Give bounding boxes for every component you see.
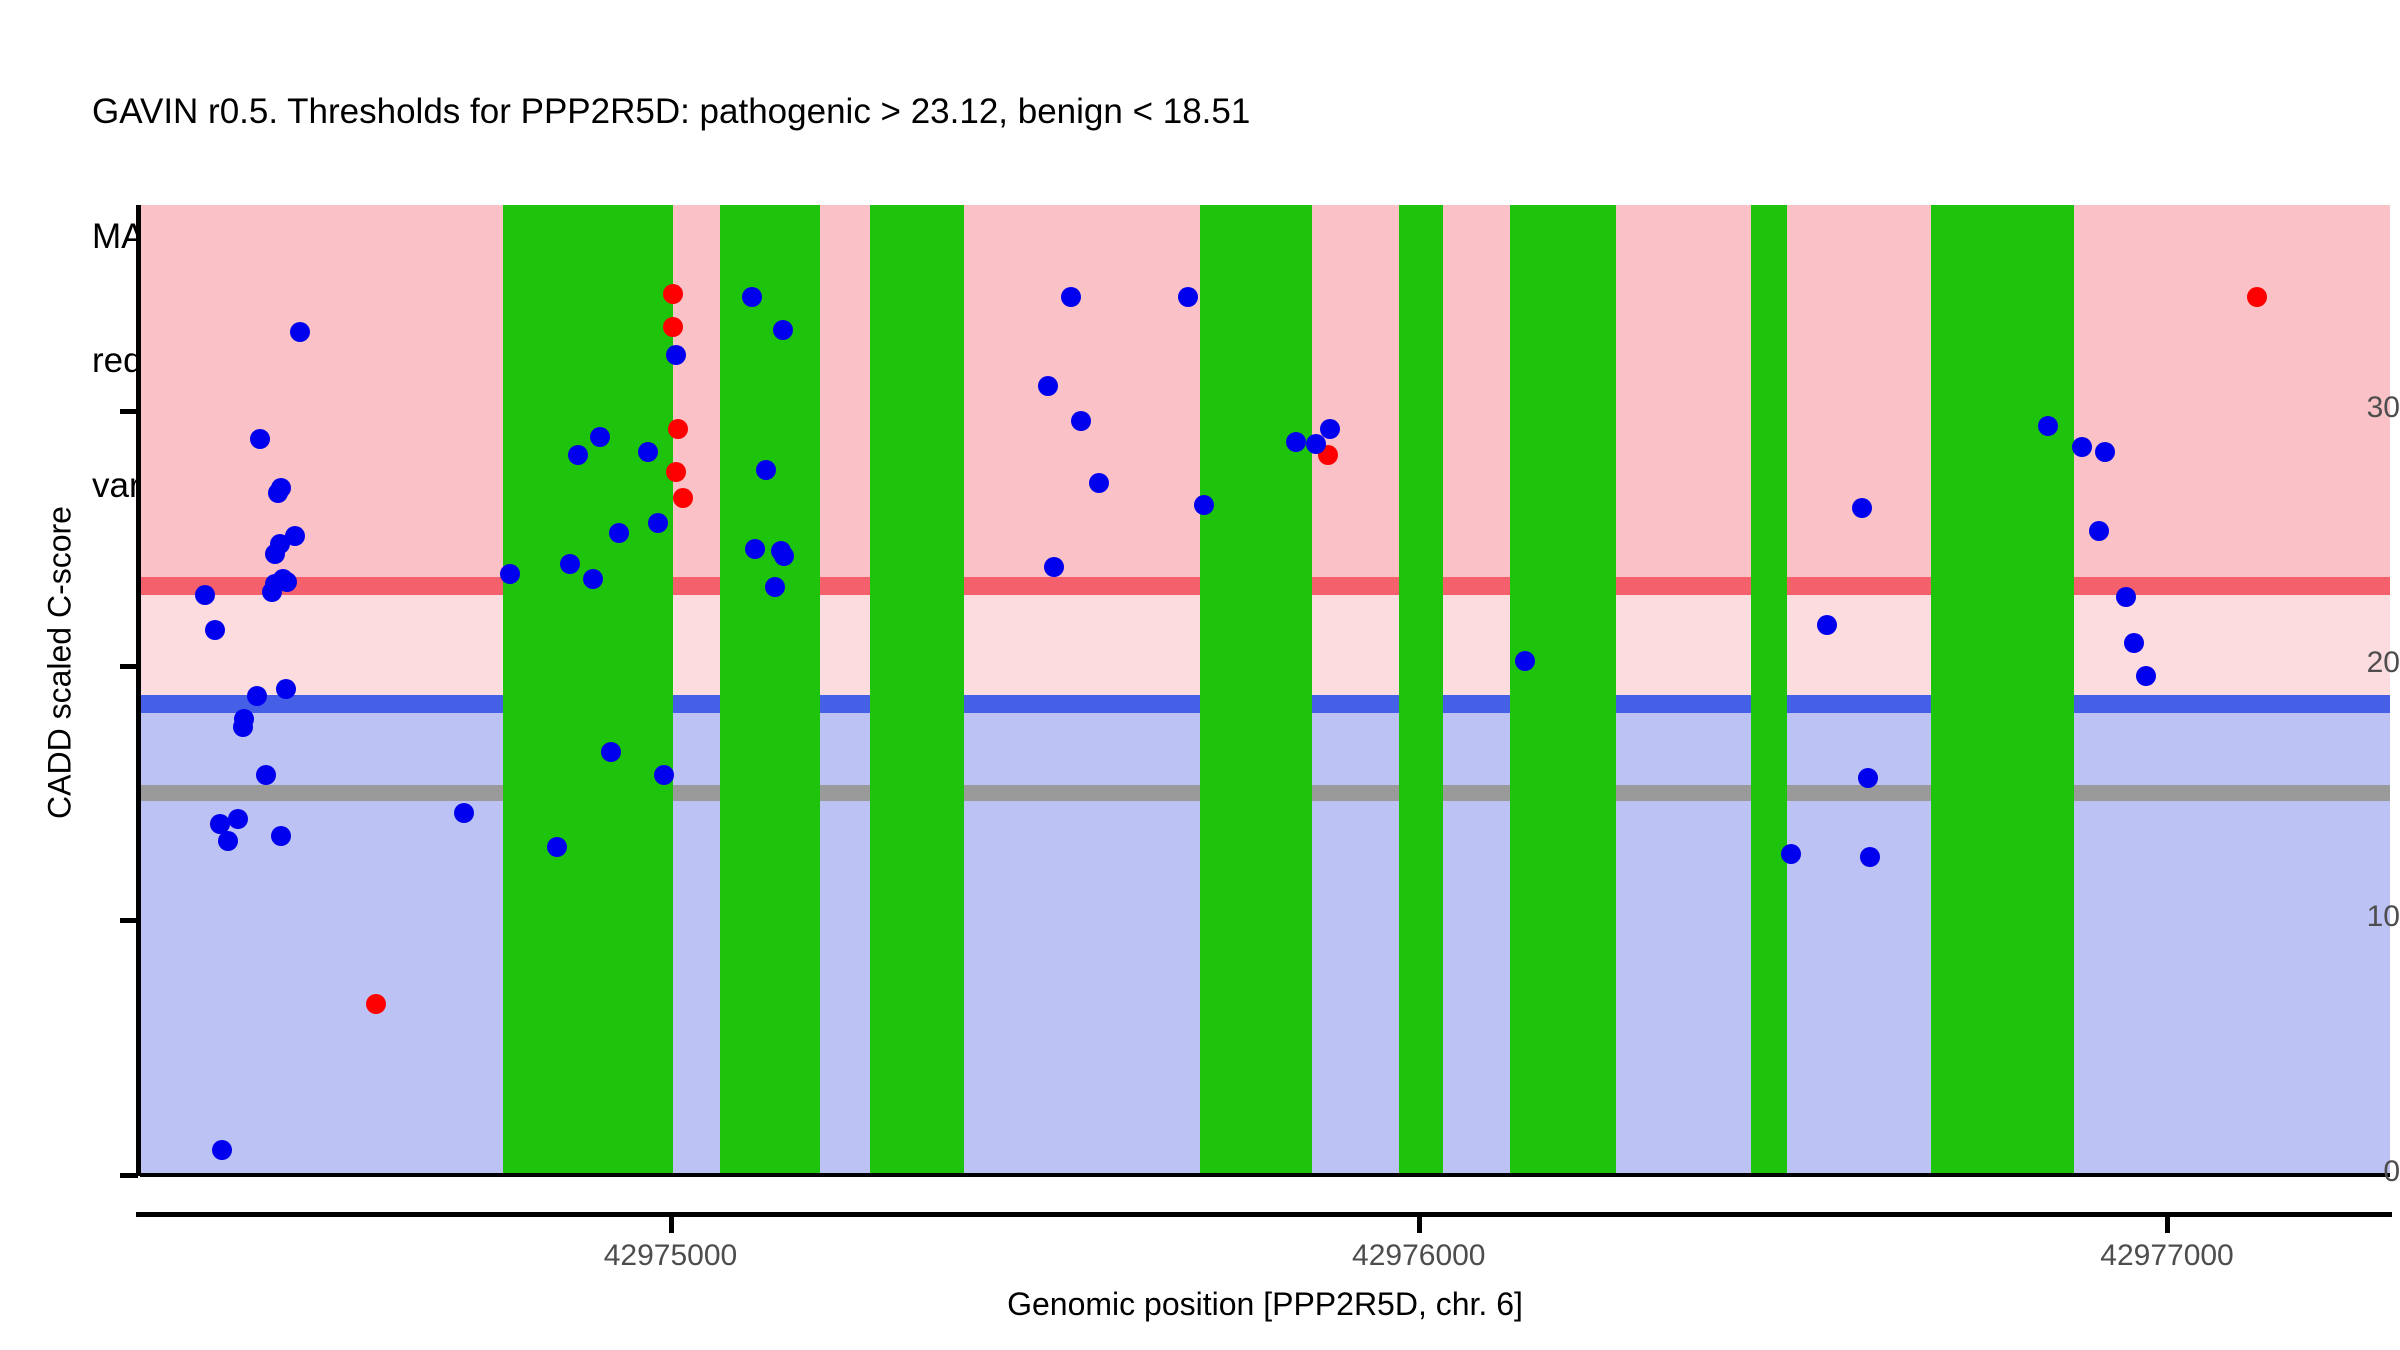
gnomad-point[interactable] [654, 765, 674, 785]
x-axis-tick [2165, 1217, 2170, 1233]
clinvar-point[interactable] [2247, 287, 2267, 307]
gnomad-point[interactable] [2089, 521, 2109, 541]
gnomad-point[interactable] [2136, 666, 2156, 686]
gnomad-point[interactable] [1515, 651, 1535, 671]
x-axis-tick-label: 42977000 [2037, 1239, 2297, 1273]
clinvar-point[interactable] [673, 488, 693, 508]
gnomad-point[interactable] [212, 1140, 232, 1160]
y-axis-tick [120, 664, 138, 669]
gnomad-point[interactable] [601, 742, 621, 762]
exon-band [720, 205, 820, 1175]
clinvar-point[interactable] [366, 994, 386, 1014]
gnomad-point[interactable] [285, 526, 305, 546]
clinvar-point[interactable] [663, 317, 683, 337]
gnomad-point[interactable] [756, 460, 776, 480]
y-axis-tick-label: 10 [2290, 900, 2400, 934]
y-axis-tick [120, 409, 138, 414]
gnomad-point[interactable] [205, 620, 225, 640]
clinvar-point[interactable] [668, 419, 688, 439]
y-axis-tick-label: 0 [2290, 1155, 2400, 1189]
gnomad-point[interactable] [1089, 473, 1109, 493]
y-axis-tick [120, 1173, 138, 1178]
y-axis-tick-label: 30 [2290, 391, 2400, 425]
y-axis-tick [120, 918, 138, 923]
exon-band [870, 205, 964, 1175]
gnomad-point[interactable] [638, 442, 658, 462]
gnomad-point[interactable] [1038, 376, 1058, 396]
gnomad-point[interactable] [2072, 437, 2092, 457]
gnomad-point[interactable] [1061, 287, 1081, 307]
gnomad-point[interactable] [1178, 287, 1198, 307]
gnomad-point[interactable] [1817, 615, 1837, 635]
exon-band [1510, 205, 1616, 1175]
gnomad-point[interactable] [276, 679, 296, 699]
title-line-1: GAVIN r0.5. Thresholds for PPP2R5D: path… [92, 91, 2352, 133]
gnomad-point[interactable] [247, 686, 267, 706]
exon-band [1200, 205, 1312, 1175]
plot-panel [140, 205, 2390, 1175]
gnomad-point[interactable] [547, 837, 567, 857]
gnomad-point[interactable] [745, 539, 765, 559]
gnomad-point[interactable] [228, 809, 248, 829]
exon-band [1931, 205, 2075, 1175]
gnomad-point[interactable] [1044, 557, 1064, 577]
exon-band [503, 205, 673, 1175]
gnomad-point[interactable] [195, 585, 215, 605]
gnomad-point[interactable] [1306, 434, 1326, 454]
gnomad-point[interactable] [271, 478, 291, 498]
gnomad-point[interactable] [773, 320, 793, 340]
y-axis-tick-label: 20 [2290, 646, 2400, 680]
gnomad-point[interactable] [218, 831, 238, 851]
exon-band [1399, 205, 1442, 1175]
x-axis-tick-label: 42975000 [541, 1239, 801, 1273]
gnomad-point[interactable] [742, 287, 762, 307]
gnomad-point[interactable] [648, 513, 668, 533]
panel-bottom-border [140, 1173, 2390, 1177]
chart-root: GAVIN r0.5. Thresholds for PPP2R5D: path… [0, 0, 2400, 1350]
x-axis-title: Genomic position [PPP2R5D, chr. 6] [140, 1286, 2390, 1323]
gnomad-point[interactable] [1286, 432, 1306, 452]
clinvar-point[interactable] [663, 284, 683, 304]
exon-band [1751, 205, 1787, 1175]
x-axis-line [136, 1212, 2392, 1217]
x-axis-tick [669, 1217, 674, 1233]
y-axis-title: CADD scaled C-score [42, 343, 79, 983]
gnomad-point[interactable] [2124, 633, 2144, 653]
gnomad-point[interactable] [256, 765, 276, 785]
x-axis-tick [1417, 1217, 1422, 1233]
gnomad-point[interactable] [590, 427, 610, 447]
y-axis-line [136, 205, 141, 1176]
gnomad-point[interactable] [2116, 587, 2136, 607]
gnomad-point[interactable] [1858, 768, 1878, 788]
gnomad-point[interactable] [568, 445, 588, 465]
gnomad-point[interactable] [1860, 847, 1880, 867]
x-axis-tick-label: 42976000 [1289, 1239, 1549, 1273]
gnomad-point[interactable] [2095, 442, 2115, 462]
